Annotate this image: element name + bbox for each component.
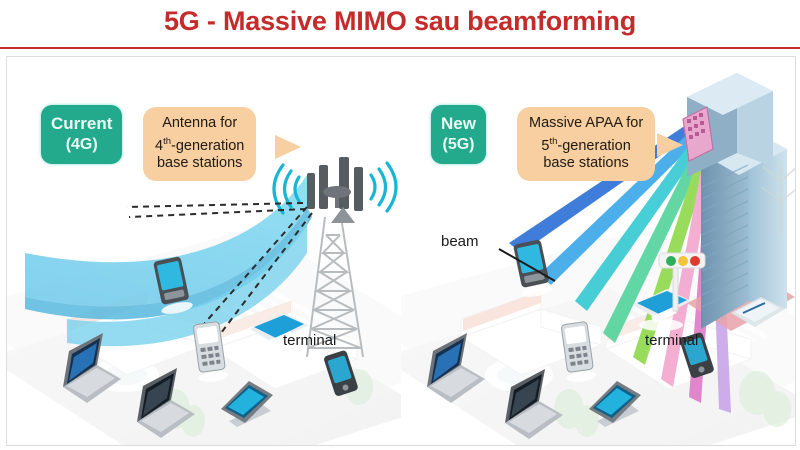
terminal-label-4g: terminal (283, 332, 336, 349)
callout-line2-post: -generation (557, 137, 630, 153)
title-divider (0, 47, 800, 49)
badge-new-5g: New (5G) (431, 105, 486, 164)
callout-line2: 4th-generation (155, 133, 244, 155)
panel-4g: Current (4G) Antenna for 4th-generation … (7, 57, 401, 445)
callout-line1: Massive APAA for (529, 115, 643, 133)
diagram-figure: Current (4G) Antenna for 4th-generation … (6, 56, 796, 446)
callout-tail-5g (657, 131, 717, 171)
badge-line2: (4G) (51, 134, 112, 155)
slide-title-bar: 5G - Massive MIMO sau beamforming (0, 0, 800, 50)
callout-antenna-4g: Antenna for 4th-generation base stations (143, 107, 256, 181)
beam-label: beam (441, 233, 479, 250)
callout-tail-4g (275, 133, 335, 173)
panel-5g: New (5G) Massive APAA for 5th-generation… (401, 57, 795, 445)
callout-line2-sup: th (163, 136, 171, 147)
device-handset (191, 321, 229, 384)
callout-line1: Antenna for (155, 115, 244, 133)
slide-canvas: 5G - Massive MIMO sau beamforming (0, 0, 800, 450)
badge-current-4g: Current (4G) (41, 105, 122, 164)
terminal-label-5g: terminal (645, 332, 698, 349)
callout-apaa-5g: Massive APAA for 5th-generation base sta… (517, 107, 655, 181)
badge-line1: Current (51, 113, 112, 134)
device-tablet (221, 381, 273, 427)
device-laptop (63, 333, 121, 403)
callout-line2-post: -generation (171, 137, 244, 153)
callout-line2: 5th-generation (529, 133, 643, 155)
badge-line2: (5G) (441, 134, 476, 155)
callout-line3: base stations (529, 155, 643, 173)
callout-line2-pre: 4 (155, 137, 163, 153)
page-title: 5G - Massive MIMO sau beamforming (0, 6, 800, 37)
device-pda (151, 256, 194, 316)
badge-line1: New (441, 113, 476, 134)
device-smartphone (323, 350, 359, 397)
callout-line3: base stations (155, 155, 244, 173)
device-laptop (137, 368, 195, 438)
